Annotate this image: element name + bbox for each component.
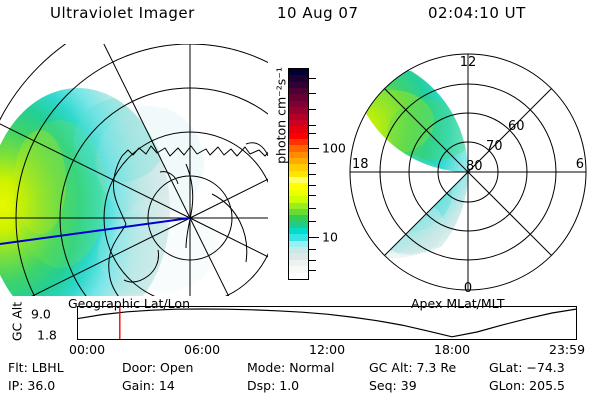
mlt-label-0: 0 [464,281,472,296]
orbit-x-tick-label: 06:00 [184,342,220,357]
status-glon: GLon: 205.5 [489,378,565,393]
colorbar-minor-tick [309,125,316,126]
geographic-projection [0,44,268,296]
status-row: IP: 36.0 Gain: 14 Dsp: 1.0 Seq: 39 GLon:… [0,378,600,396]
colorbar-major-tick [309,237,319,238]
mlt-label-18: 18 [352,157,369,172]
colorbar-minor-tick [309,163,316,164]
colorbar-minor-tick [309,185,316,186]
orbit-altitude-strip[interactable]: GC Alt 9.0 1.8 00:0006:0012:0018:0023:59 [0,300,600,358]
colorbar-minor-tick [309,208,316,209]
status-ip: IP: 36.0 [8,378,55,393]
page-title: Ultraviolet Imager [50,4,195,22]
colorbar-major-tick [309,148,319,149]
geographic-image-panel[interactable] [0,44,268,296]
mlt-label-12: 12 [460,55,477,70]
mlat-label-60: 60 [508,119,525,134]
status-row: Flt: LBHL Door: Open Mode: Normal GC Alt… [0,360,600,378]
orbit-plot-area[interactable] [77,306,577,340]
colorbar-minor-tick [309,133,316,134]
apex-polar-projection: 12 6 0 18 60 70 80 [340,44,600,296]
orbit-x-tick-label: 18:00 [434,342,470,357]
polar-dial-panel[interactable]: 12 6 0 18 60 70 80 [340,44,600,296]
status-gc-alt: GC Alt: 7.3 Re [369,360,456,375]
observation-time: 02:04:10 UT [428,4,526,22]
orbit-y-tick-high: 9.0 [31,307,51,322]
colorbar-minor-tick [309,109,316,110]
colorbar-segment [289,273,308,279]
orbit-x-tick-label: 00:00 [69,342,105,357]
colorbar-minor-tick [309,174,316,175]
colorbar-minor-tick [309,195,316,196]
colorbar-tick-label: 10 [322,229,338,244]
status-gain: Gain: 14 [122,378,175,393]
header-bar: Ultraviolet Imager 10 Aug 07 02:04:10 UT [0,4,600,30]
status-seq: Seq: 39 [369,378,417,393]
mlt-label-6: 6 [576,157,584,172]
colorbar-minor-tick [309,221,316,222]
colorbar-group: photon cm⁻²s⁻¹ 10010 [268,56,340,296]
colorbar-minor-tick [309,78,316,79]
mlat-label-80: 80 [466,159,483,174]
observation-date: 10 Aug 07 [277,4,359,22]
colorbar-minor-tick [309,260,316,261]
colorbar-axis-label: photon cm⁻²s⁻¹ [274,41,289,191]
polar-mlat-labels: 60 70 80 [466,119,525,174]
orbit-x-tick-label: 12:00 [309,342,345,357]
status-glat: GLat: −74.3 [489,360,565,375]
orbit-y-axis-label: GC Alt [10,292,25,352]
colorbar-gradient[interactable] [288,68,309,280]
status-filter: Flt: LBHL [8,360,64,375]
status-dsp: Dsp: 1.0 [247,378,299,393]
orbit-y-tick-low: 1.8 [37,328,57,343]
mlat-label-70: 70 [486,139,503,154]
colorbar-minor-tick [309,270,316,271]
colorbar-minor-tick [309,249,316,250]
orbit-altitude-curve [77,306,577,340]
status-mode: Mode: Normal [247,360,334,375]
colorbar-minor-tick [309,93,316,94]
status-door: Door: Open [122,360,193,375]
orbit-x-tick-label: 23:59 [549,342,585,357]
status-block: Flt: LBHL Door: Open Mode: Normal GC Alt… [0,360,600,400]
